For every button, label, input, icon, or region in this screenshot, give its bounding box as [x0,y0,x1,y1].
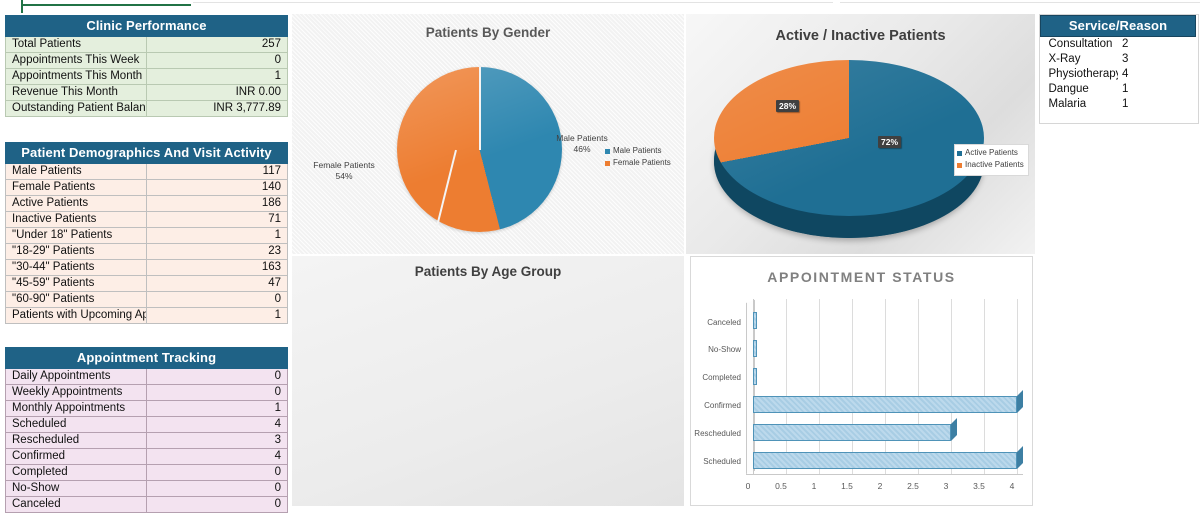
legend-item[interactable]: Male Patients [605,145,671,157]
patient-demographics-table: Patient Demographics And Visit Activity … [5,142,288,324]
hbar-canceled[interactable] [753,312,757,329]
row-value: 1 [147,69,288,85]
hbar-completed[interactable] [753,368,757,385]
row-label: Canceled [6,497,147,513]
legend-label: Male Patients [613,145,661,157]
table-row[interactable]: Appointments This Month 1 [6,69,288,85]
legend-item[interactable]: Active Patients [957,147,1024,159]
row-label: Consultation [1041,37,1119,53]
row-label: Outstanding Patient Balances [6,101,147,117]
row-value: 0 [147,369,288,385]
table-row[interactable]: Revenue This Month INR 0.00 [6,85,288,101]
y-category-scheduled: Scheduled [691,457,741,466]
table-row[interactable]: Outstanding Patient Balances INR 3,777.8… [6,101,288,117]
row-label: Confirmed [6,449,147,465]
clinic-performance-title: Clinic Performance [6,16,288,37]
x-tick-label: 1 [800,481,828,491]
service-reason-title: Service/Reason [1041,16,1196,37]
table-row[interactable]: Malaria 1 [1041,97,1196,112]
row-value: 4 [147,449,288,465]
grid-line-upper [193,2,833,3]
table-row[interactable]: "60-90" Patients 0 [6,292,288,308]
chart-title: APPOINTMENT STATUS [691,269,1032,285]
pie-label-female: Female Patients 54% [298,160,390,181]
pie-separator [479,67,481,150]
table-row[interactable]: Daily Appointments 0 [6,369,288,385]
table-row[interactable]: No-Show 0 [6,481,288,497]
hbar-rescheduled[interactable] [753,424,951,441]
row-value: 186 [147,196,288,212]
table-row[interactable]: Confirmed 4 [6,449,288,465]
row-label: "60-90" Patients [6,292,147,308]
demographics-header: Patient Demographics And Visit Activity [6,143,288,164]
hbar-noshow[interactable] [753,340,757,357]
x-tick-label: 2.5 [899,481,927,491]
legend-item[interactable]: Female Patients [605,157,671,169]
legend-item[interactable]: Inactive Patients [957,159,1024,171]
row-value: 3 [1118,52,1196,67]
patients-by-gender-chart[interactable]: Patients By Gender Male Patients 46% Fem… [292,14,684,254]
row-label: Completed [6,465,147,481]
table-row[interactable]: Patients with Upcoming Appointments 1 [6,308,288,324]
row-label: Scheduled [6,417,147,433]
hbar-confirmed[interactable] [753,396,1017,413]
row-label: Revenue This Month [6,85,147,101]
table-row[interactable]: Canceled 0 [6,497,288,513]
clinic-performance-table: Clinic Performance Total Patients 257 Ap… [5,15,288,117]
service-reason-header: Service/Reason [1041,16,1196,37]
row-label: Female Patients [6,180,147,196]
table-row[interactable]: "30-44" Patients 163 [6,260,288,276]
row-label: Physiotherapy S. [1041,67,1119,82]
row-label: Rescheduled [6,433,147,449]
table-row[interactable]: Monthly Appointments 1 [6,401,288,417]
grid-line-upper-right [840,2,1200,3]
row-value: 257 [147,37,288,53]
demographics-title: Patient Demographics And Visit Activity [6,143,288,164]
legend-swatch-blue-icon [957,151,962,156]
chart-title: Patients By Gender [292,25,684,40]
row-label: "30-44" Patients [6,260,147,276]
service-reason-table: Service/Reason Consultation 2 X-Ray 3 Ph… [1040,15,1196,112]
table-row[interactable]: Completed 0 [6,465,288,481]
appointment-tracking-table: Appointment Tracking Daily Appointments … [5,347,288,513]
table-row[interactable]: Female Patients 140 [6,180,288,196]
row-label: Patients with Upcoming Appointments [6,308,147,324]
pie3d-label-inactive: 28% [776,100,799,112]
table-row[interactable]: Physiotherapy S. 4 [1041,67,1196,82]
table-row[interactable]: Active Patients 186 [6,196,288,212]
selected-cell-edge [21,0,23,13]
y-category-rescheduled: Rescheduled [691,429,741,438]
table-row[interactable]: Dangue 1 [1041,82,1196,97]
dashboard-sheet: Clinic Performance Total Patients 257 Ap… [0,0,1200,508]
legend-label: Active Patients [965,147,1018,159]
pie-label-female-name: Female Patients [313,160,374,170]
row-value: 1 [147,401,288,417]
row-value: 0 [147,497,288,513]
service-reason-panel: Service/Reason Consultation 2 X-Ray 3 Ph… [1039,14,1199,124]
pie3d-top-gloss [714,60,984,216]
legend-swatch-blue-icon [605,149,610,154]
hbar-scheduled-cap [1017,446,1023,469]
row-label: Appointments This Week [6,53,147,69]
legend-swatch-orange-icon [605,161,610,166]
x-tick-label: 0.5 [767,481,795,491]
x-tick-label: 3 [932,481,960,491]
table-row[interactable]: Weekly Appointments 0 [6,385,288,401]
row-value: 1 [1118,82,1196,97]
row-label: Total Patients [6,37,147,53]
table-row[interactable]: "18-29" Patients 23 [6,244,288,260]
legend-swatch-orange-icon [957,163,962,168]
row-label: Male Patients [6,164,147,180]
chart-title: Patients By Age Group [292,264,684,279]
pie3d: 72% 28% [714,60,984,238]
x-tick-label: 4 [998,481,1026,491]
chart-title: Active / Inactive Patients [686,28,1035,44]
legend-label: Inactive Patients [965,159,1024,171]
table-row[interactable]: Consultation 2 [1041,37,1196,53]
y-category-confirmed: Confirmed [691,401,741,410]
row-value: 1 [1118,97,1196,112]
table-row[interactable]: Inactive Patients 71 [6,212,288,228]
x-tick-label: 1.5 [833,481,861,491]
x-axis-line [746,474,1023,475]
row-value: 71 [147,212,288,228]
table-row[interactable]: Total Patients 257 [6,37,288,53]
spreadsheet-top-strip [0,0,1200,13]
row-value: 23 [147,244,288,260]
table-row[interactable]: X-Ray 3 [1041,52,1196,67]
selected-cell-outline[interactable] [21,0,191,6]
table-row[interactable]: Rescheduled 3 [6,433,288,449]
row-value: INR 0.00 [147,85,288,101]
row-value: 4 [147,417,288,433]
y-category-canceled: Canceled [691,318,741,327]
appointment-status-chart[interactable]: APPOINTMENT STATUS Canceled No-Show Comp… [690,256,1033,506]
active-inactive-patients-chart[interactable]: Active / Inactive Patients 72% 28% Activ… [686,14,1035,254]
row-label: Dangue [1041,82,1119,97]
row-value: 3 [147,433,288,449]
row-label: "Under 18" Patients [6,228,147,244]
table-row[interactable]: Appointments This Week 0 [6,53,288,69]
row-label: X-Ray [1041,52,1119,67]
row-value: 0 [147,53,288,69]
hbar-confirmed-cap [1017,390,1023,413]
pie-label-male-pct: 46% [573,144,590,154]
row-value: 117 [147,164,288,180]
x-tick-label: 2 [866,481,894,491]
appointment-tracking-header: Appointment Tracking [6,348,288,369]
row-value: 2 [1118,37,1196,53]
pie-label-male-name: Male Patients [556,133,608,143]
row-label: Weekly Appointments [6,385,147,401]
row-value: 0 [147,465,288,481]
row-label: No-Show [6,481,147,497]
patients-by-age-group-chart[interactable]: Patients By Age Group 180 160 140 120 10… [292,256,684,506]
pie3d-label-active: 72% [878,136,901,148]
row-value: 0 [147,385,288,401]
clinic-performance-header: Clinic Performance [6,16,288,37]
row-label: Active Patients [6,196,147,212]
x-tick-label: 3.5 [965,481,993,491]
row-value: 163 [147,260,288,276]
row-label: Malaria [1041,97,1119,112]
pie-label-female-pct: 54% [335,171,352,181]
y-category-noshow: No-Show [691,345,741,354]
row-label: Daily Appointments [6,369,147,385]
row-label: Monthly Appointments [6,401,147,417]
hbar-scheduled[interactable] [753,452,1017,469]
row-value: INR 3,777.89 [147,101,288,117]
row-value: 1 [147,308,288,324]
y-category-completed: Completed [691,373,741,382]
row-value: 4 [1118,67,1196,82]
appointment-tracking-title: Appointment Tracking [6,348,288,369]
x-tick-label: 0 [734,481,762,491]
row-value: 47 [147,276,288,292]
row-value: 0 [147,481,288,497]
row-label: "18-29" Patients [6,244,147,260]
table-row[interactable]: Male Patients 117 [6,164,288,180]
legend-label: Female Patients [613,157,671,169]
row-label: Inactive Patients [6,212,147,228]
chart-legend[interactable]: Active Patients Inactive Patients [957,147,1024,172]
row-value: 1 [147,228,288,244]
row-label: Appointments This Month [6,69,147,85]
row-value: 140 [147,180,288,196]
chart-legend[interactable]: Male Patients Female Patients [605,145,671,170]
table-row[interactable]: "45-59" Patients 47 [6,276,288,292]
row-label: "45-59" Patients [6,276,147,292]
table-row[interactable]: "Under 18" Patients 1 [6,228,288,244]
row-value: 0 [147,292,288,308]
table-row[interactable]: Scheduled 4 [6,417,288,433]
